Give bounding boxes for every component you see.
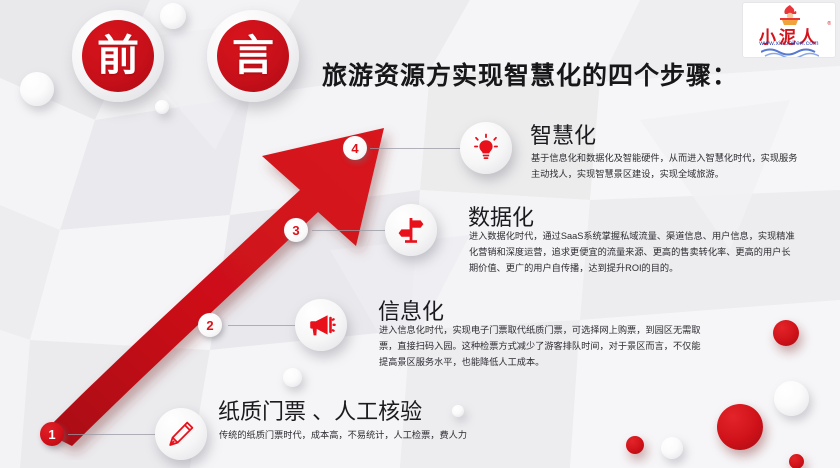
lightbulb-icon — [471, 133, 501, 163]
step-marker-4[interactable]: 4 — [343, 136, 367, 160]
header-badge-yan: 言 — [207, 10, 299, 102]
decor-sphere-white-2 — [661, 437, 683, 459]
step-title-1: 纸质门票 、人工核验 — [218, 394, 422, 426]
decor-sphere-white-1 — [774, 381, 809, 416]
slide-canvas: 前 言 旅游资源方实现智慧化的四个步骤： 小泥人 ® www.xiaoniren… — [0, 0, 840, 468]
logo-url-text: www.xiaoniren.com — [743, 40, 835, 47]
decor-sphere-top-2 — [155, 100, 169, 114]
pencil-icon — [166, 419, 196, 449]
page-title: 旅游资源方实现智慧化的四个步骤： — [322, 56, 738, 92]
decor-sphere-white-3 — [283, 368, 302, 387]
leader-line-3 — [312, 230, 386, 231]
step-description-1: 传统的纸质门票时代，成本高，不易统计，人工检票，费人力 — [219, 428, 549, 443]
leader-line-1 — [68, 434, 156, 435]
step-marker-2[interactable]: 2 — [198, 313, 222, 337]
decor-sphere-red-2 — [717, 404, 763, 450]
step-icon-1-pencil[interactable] — [155, 408, 207, 460]
badge-char-qian: 前 — [82, 20, 154, 92]
step-description-4: 基于信息化和数据化及智能硬件，从而进入智慧化时代，实现服务主动找人，实现智慧景区… — [531, 150, 801, 182]
decor-sphere-left-1 — [20, 72, 54, 106]
step-description-3: 进入数据化时代，通过SaaS系统掌握私域流量、渠道信息、用户信息，实现精准化营销… — [469, 228, 799, 276]
decor-sphere-white-4 — [452, 405, 464, 417]
logo-registered-mark: ® — [827, 21, 831, 27]
decor-sphere-red-1 — [773, 320, 799, 346]
leader-line-2 — [228, 325, 296, 326]
step-marker-1[interactable]: 1 — [40, 422, 64, 446]
step-icon-2-megaphone[interactable] — [295, 299, 347, 351]
step-title-4: 智慧化 — [530, 118, 596, 150]
step-icon-3-signpost[interactable] — [385, 204, 437, 256]
brand-logo: 小泥人 ® www.xiaoniren.com — [742, 2, 836, 58]
decor-sphere-top-1 — [160, 3, 186, 29]
step-marker-3[interactable]: 3 — [284, 218, 308, 242]
decor-sphere-red-3 — [789, 454, 804, 468]
step-description-2: 进入信息化时代，实现电子门票取代纸质门票，可选择网上购票，到园区无需取票，直接扫… — [379, 322, 704, 370]
decor-sphere-red-4 — [626, 436, 644, 454]
step-icon-4-lightbulb[interactable] — [460, 122, 512, 174]
logo-wave-icon — [761, 47, 819, 57]
leader-line-4 — [370, 148, 462, 149]
signpost-icon — [397, 216, 425, 244]
header-badge-qian: 前 — [72, 10, 164, 102]
megaphone-icon — [306, 312, 336, 338]
badge-char-yan: 言 — [217, 20, 289, 92]
